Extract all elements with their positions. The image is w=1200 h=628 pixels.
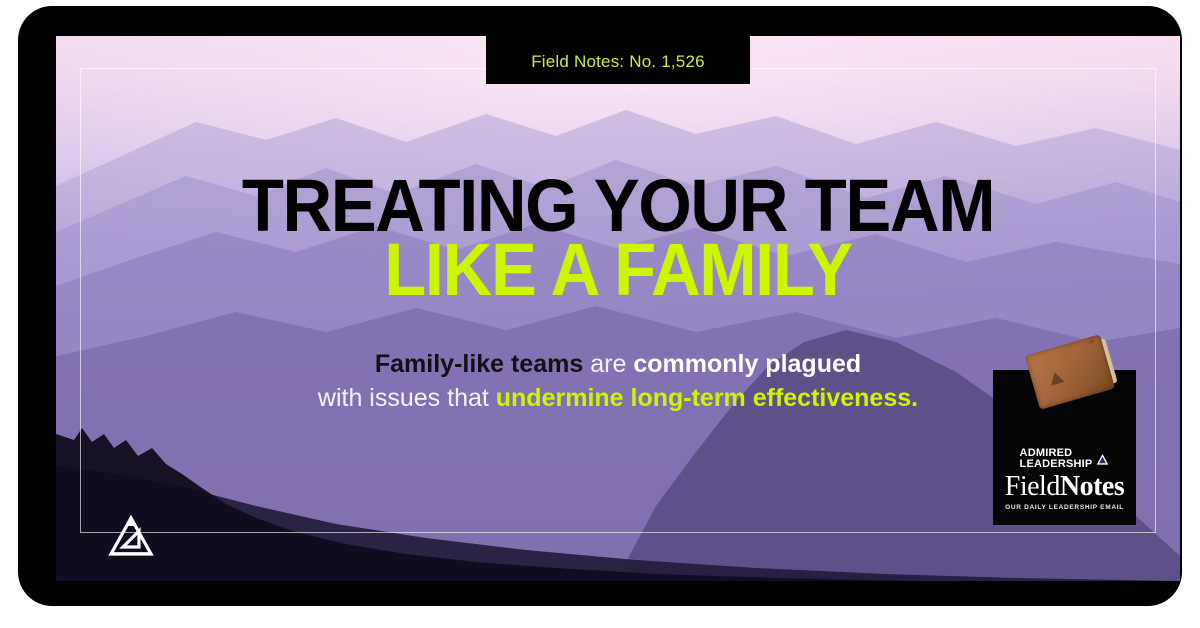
brand-word-leadership: LEADERSHIP <box>1020 459 1093 470</box>
notebook-triangle-icon <box>1048 370 1065 385</box>
subhead-segment-with-issues-that: with issues that <box>318 384 496 412</box>
headline-line-2: LIKE A FAMILY <box>60 238 1176 302</box>
subhead-segment-commonly-plagued: commonly plagued <box>633 350 861 378</box>
triangle-logo-icon <box>1096 453 1109 466</box>
fieldnotes-wordmark: FieldNotes <box>993 472 1136 501</box>
headline: TREATING YOUR TEAM LIKE A FAMILY <box>18 174 1182 301</box>
subhead-segment-family-like-teams: Family-like teams <box>375 350 590 378</box>
subhead-segment-are: are <box>590 350 633 378</box>
brand-lockup: ADMIRED LEADERSHIP FieldNotes OUR DAILY … <box>993 448 1136 511</box>
subhead-segment-undermine-effectiveness: undermine long-term effectiveness. <box>496 384 918 412</box>
wordmark-notes: Notes <box>1060 471 1124 502</box>
brand-words: ADMIRED LEADERSHIP <box>1020 448 1093 470</box>
issue-badge-label: Field Notes: No. 1,526 <box>531 52 705 72</box>
admired-leadership-brand: ADMIRED LEADERSHIP <box>993 448 1136 470</box>
field-notes-product-card: FIELD NOTES ADMIRED LEADERSHIP FieldNote <box>993 370 1136 525</box>
social-card-frame: Field Notes: No. 1,526 TREATING YOUR TEA… <box>18 6 1182 606</box>
product-card-tagline: OUR DAILY LEADERSHIP EMAIL <box>993 504 1136 511</box>
issue-badge: Field Notes: No. 1,526 <box>486 6 750 84</box>
admired-leadership-logo-icon <box>106 514 158 560</box>
wordmark-field: Field <box>1005 471 1060 502</box>
